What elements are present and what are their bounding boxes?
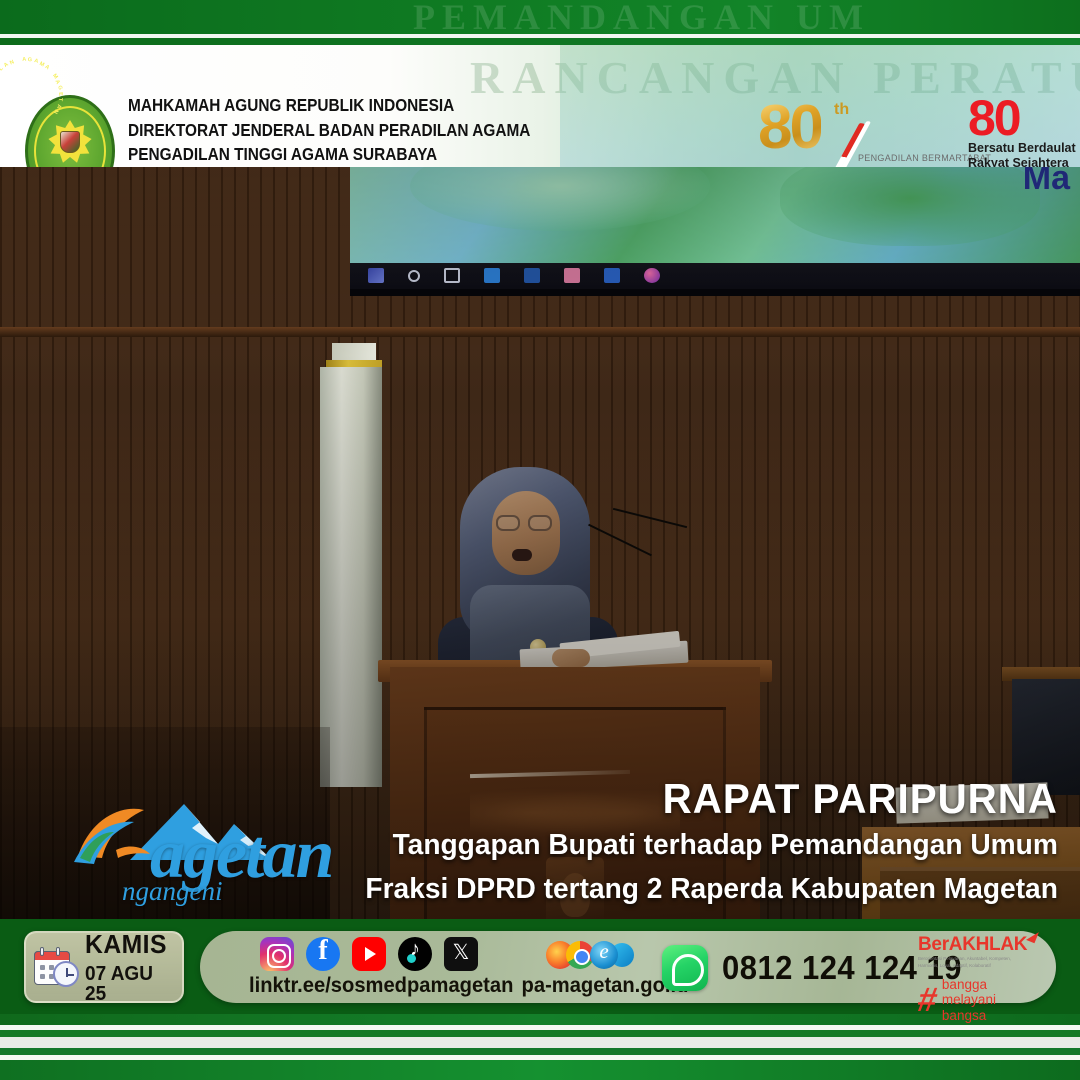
seal-shield-icon bbox=[60, 131, 80, 153]
letterhead-header: RANCANGAN PERATU PENGADILAN AGAMA MAGETA… bbox=[0, 45, 1080, 167]
calendar-ring-right bbox=[56, 947, 60, 956]
berakhlak-logo: BerAKHLAK bbox=[918, 935, 1048, 954]
x-twitter-icon[interactable] bbox=[444, 937, 478, 971]
berakhlak-text: BerAKHLAK bbox=[918, 934, 1027, 955]
youtube-icon[interactable] bbox=[352, 937, 386, 971]
red-tagline: Bersatu Berdaulat Rakyat Sejahtera Indon… bbox=[968, 141, 1076, 167]
gold-80-number: 80 bbox=[758, 97, 821, 159]
brand-logos-group: BerAKHLAK Berorientasi Pelayanan, Akunta… bbox=[918, 935, 1048, 1024]
bottom-white-stripe-2 bbox=[0, 1037, 1080, 1048]
header-line-2: DIREKTORAT JENDERAL BADAN PERADILAN AGAM… bbox=[128, 122, 543, 140]
court-seal-icon: PENGADILAN AGAMA MAGETAN bbox=[25, 95, 115, 167]
red-80-number: 80 bbox=[968, 93, 1020, 143]
date-value: 07 AGU 25 bbox=[85, 964, 177, 1004]
instagram-icon[interactable] bbox=[260, 937, 294, 971]
footer-bar: KAMIS 07 AGU 25 linktr.ee/sosmedpamageta… bbox=[0, 919, 1080, 1014]
magetan-tagline: ngangeni bbox=[122, 878, 223, 905]
date-text-block: KAMIS 07 AGU 25 bbox=[85, 931, 182, 1004]
title-sub-line-1: Tanggapan Bupati terhadap Pemandangan Um… bbox=[366, 826, 1058, 864]
calendar-dot bbox=[40, 974, 45, 979]
berakhlak-subtitle: Berorientasi Pelayanan, Akuntabel, Kompe… bbox=[918, 956, 1023, 970]
date-day-name: KAMIS bbox=[85, 931, 177, 957]
title-block: RAPAT PARIPURNA Tanggapan Bupati terhada… bbox=[344, 778, 1058, 909]
calendar-ring-left bbox=[40, 947, 44, 956]
internet-explorer-icon bbox=[590, 941, 618, 969]
social-icon-row bbox=[244, 937, 494, 971]
hashtag-icon: # bbox=[916, 987, 940, 1014]
date-badge: KAMIS 07 AGU 25 bbox=[24, 931, 184, 1003]
arrow-up-icon bbox=[1026, 929, 1039, 943]
facebook-icon[interactable] bbox=[306, 937, 340, 971]
calendar-clock-icon bbox=[34, 945, 80, 989]
bottom-green-stripe-3 bbox=[0, 1048, 1080, 1055]
top-band-watermark: PEMANDANGAN UM bbox=[413, 0, 870, 38]
top-green-stripe bbox=[0, 38, 1080, 45]
gold-th-suffix: th bbox=[834, 101, 849, 119]
header-line-3: PENGADILAN TINGGI AGAMA SURABAYA bbox=[128, 146, 543, 164]
anniversary-red-logo: 80 Bersatu Berdaulat Rakyat Sejahtera In… bbox=[966, 97, 1076, 167]
social-media-group: linktr.ee/sosmedpamagetan bbox=[244, 937, 494, 998]
clock-icon bbox=[53, 961, 79, 987]
bangga-line-3: bangsa bbox=[942, 1008, 986, 1023]
social-linktree-url[interactable]: linktr.ee/sosmedpamagetan bbox=[249, 974, 489, 998]
bottom-green-band-2 bbox=[0, 1060, 1080, 1080]
bottom-green-stripe-2 bbox=[0, 1030, 1080, 1037]
magetan-tourism-logo: agetan ngangeni bbox=[62, 792, 372, 910]
calendar-dot bbox=[40, 965, 45, 970]
title-sub-line-2: Fraksi DPRD tertang 2 Raperda Kabupaten … bbox=[366, 870, 1058, 908]
title-main: RAPAT PARIPURNA bbox=[373, 778, 1058, 820]
poster-canvas: PEMANDANGAN UM RANCANGAN PERATU PENGADIL… bbox=[0, 0, 1080, 1080]
clock-minute-hand bbox=[66, 974, 74, 976]
whatsapp-icon[interactable] bbox=[662, 945, 708, 991]
bangga-line-2: melayani bbox=[942, 992, 996, 1007]
tiktok-icon[interactable] bbox=[398, 937, 432, 971]
header-line-1: MAHKAMAH AGUNG REPUBLIK INDONESIA bbox=[128, 97, 543, 115]
bangga-text-block: bangga melayani bangsa bbox=[942, 977, 996, 1025]
header-text-block: MAHKAMAH AGUNG REPUBLIK INDONESIA DIREKT… bbox=[128, 97, 600, 167]
anniversary-gold-logo: 80 th PENGADILAN BERMARTABAT NEGARA BERD… bbox=[758, 97, 943, 167]
footer-contact-pill: linktr.ee/sosmedpamagetan pa-magetan.go.… bbox=[200, 931, 1056, 1003]
top-green-band: PEMANDANGAN UM bbox=[0, 0, 1080, 34]
bangga-melayani-bangsa-logo: # bangga melayani bangsa bbox=[918, 977, 1048, 1025]
bangga-line-1: bangga bbox=[942, 977, 987, 992]
